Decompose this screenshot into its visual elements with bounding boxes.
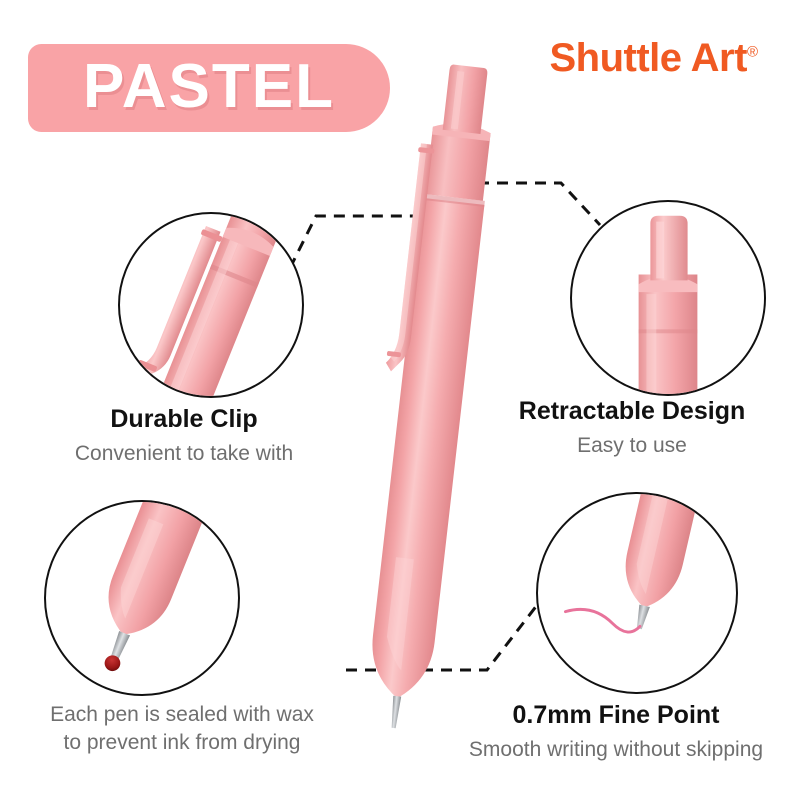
- feature-subtitle-wax-seal-line1: Each pen is sealed with wax: [12, 702, 352, 728]
- point-detail-metal-tip: [634, 605, 650, 630]
- retract-detail-plunger-highlight: [656, 222, 664, 279]
- feature-label-wax-seal: Each pen is sealed with wax to prevent i…: [12, 702, 352, 755]
- detail-circle-retractable-design: [570, 200, 766, 396]
- point-detail-ink-stroke: [565, 609, 639, 632]
- retract-detail-barrel-highlight: [646, 294, 656, 392]
- pen-metal-tip: [390, 696, 402, 729]
- detail-circle-fine-point: [536, 492, 738, 694]
- feature-subtitle-retractable-design: Easy to use: [460, 433, 800, 459]
- retract-detail-plunger: [650, 216, 687, 281]
- feature-label-fine-point: 0.7mm Fine Point Smooth writing without …: [440, 700, 792, 762]
- feature-title-fine-point: 0.7mm Fine Point: [440, 700, 792, 731]
- detail-art-wax-seal: [46, 502, 238, 694]
- pen-plunger-button: [443, 64, 488, 134]
- feature-label-durable-clip: Durable Clip Convenient to take with: [14, 404, 354, 466]
- detail-art-fine-point: [538, 494, 736, 692]
- feature-title-durable-clip: Durable Clip: [14, 404, 354, 435]
- detail-circle-durable-clip: [118, 212, 304, 398]
- feature-subtitle-wax-seal-line2: to prevent ink from drying: [12, 730, 352, 756]
- feature-label-retractable-design: Retractable Design Easy to use: [460, 396, 800, 458]
- infographic-canvas: PASTEL Shuttle Art®: [0, 0, 800, 800]
- detail-art-retractable-design: [572, 202, 764, 394]
- feature-title-retractable-design: Retractable Design: [460, 396, 800, 427]
- detail-circle-wax-seal: [44, 500, 240, 696]
- detail-art-durable-clip: [120, 214, 302, 396]
- feature-subtitle-durable-clip: Convenient to take with: [14, 441, 354, 467]
- feature-subtitle-fine-point: Smooth writing without skipping: [440, 737, 792, 763]
